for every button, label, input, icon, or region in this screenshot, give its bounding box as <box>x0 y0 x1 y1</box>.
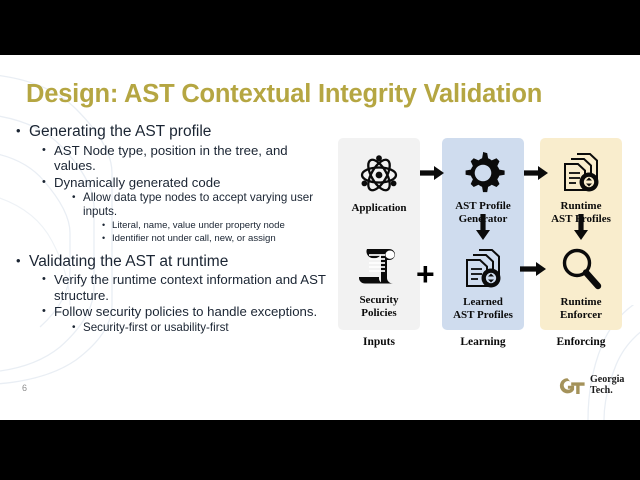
letterbox-bottom <box>0 420 640 480</box>
gear-icon <box>442 148 524 200</box>
bullet-marker: • <box>72 191 83 204</box>
bullet-level1: • Validating the AST at runtime <box>16 253 328 272</box>
bullet-text: Literal, name, value under property node <box>112 220 328 232</box>
column-label-learning: Learning <box>442 336 524 348</box>
gt-monogram-icon <box>556 376 586 396</box>
bullet-spacer <box>16 246 328 253</box>
letterbox-top <box>0 0 640 55</box>
bullet-marker: • <box>16 253 29 269</box>
column-label-enforcing: Enforcing <box>540 336 622 348</box>
bullet-level4: • Identifier not under call, new, or ass… <box>102 233 328 245</box>
bullet-list: • Generating the AST profile • AST Node … <box>16 123 328 336</box>
arrow-runtime-profiles-to-enforcer <box>574 214 588 240</box>
bullet-text: Dynamically generated code <box>54 175 328 191</box>
bullet-level2: • Verify the runtime context information… <box>42 272 328 303</box>
bullet-marker: • <box>42 175 54 189</box>
bullet-level2: • Follow security policies to handle exc… <box>42 304 328 320</box>
node-security-policies: Security Policies <box>338 242 420 319</box>
column-label-inputs: Inputs <box>338 336 420 348</box>
atom-icon <box>338 150 420 202</box>
node-caption-line1: Runtime <box>540 296 622 309</box>
page-number: 6 <box>22 383 27 393</box>
bullet-text: Allow data type nodes to accept varying … <box>83 191 328 218</box>
node-caption-line2: Enforcer <box>540 309 622 322</box>
node-caption-line1: AST Profile <box>442 200 524 213</box>
node-caption: Application <box>338 202 420 215</box>
bullet-marker: • <box>16 123 29 139</box>
georgia-tech-logo: Georgia Tech. <box>556 375 624 397</box>
scroll-icon <box>338 242 420 294</box>
bullet-marker: • <box>42 272 54 286</box>
arrow-learned-to-enforcer <box>520 262 546 276</box>
magnifier-icon <box>540 244 622 296</box>
bullet-level3: • Allow data type nodes to accept varyin… <box>72 191 328 218</box>
bullet-text: Follow security policies to handle excep… <box>54 304 328 320</box>
bullet-text: Validating the AST at runtime <box>29 253 328 272</box>
bullet-text: Verify the runtime context information a… <box>54 272 328 303</box>
bullet-level2: • Dynamically generated code <box>42 175 328 191</box>
gt-wordmark-line1: Georgia <box>590 374 624 385</box>
documents-badge-icon <box>442 244 524 296</box>
gt-wordmark-line2: Tech. <box>590 385 613 396</box>
node-caption-line1: Runtime <box>540 200 622 213</box>
node-learned-ast-profiles: Learned AST Profiles <box>442 244 524 321</box>
node-caption-line2: AST Profiles <box>442 309 524 322</box>
bullet-level1: • Generating the AST profile <box>16 123 328 142</box>
bullet-marker: • <box>72 321 83 334</box>
arrow-generator-to-learned <box>476 214 490 240</box>
bullet-marker: • <box>42 304 54 318</box>
arrow-generator-to-runtime-profiles <box>524 166 548 180</box>
bullet-marker: • <box>42 143 54 157</box>
bullet-marker: • <box>102 220 112 232</box>
plus-symbol: + <box>416 258 435 290</box>
pipeline-diagram: Application <box>334 138 630 383</box>
bullet-text: AST Node type, position in the tree, and… <box>54 143 328 174</box>
slide-canvas: Design: AST Contextual Integrity Validat… <box>0 55 640 420</box>
page-title: Design: AST Contextual Integrity Validat… <box>26 80 542 109</box>
bullet-text: Identifier not under call, new, or assig… <box>112 233 328 245</box>
node-caption-line1: Learned <box>442 296 524 309</box>
documents-badge-icon <box>540 148 622 200</box>
bullet-level3: • Security-first or usability-first <box>72 321 328 335</box>
bullet-marker: • <box>102 233 112 245</box>
bullet-text: Security-first or usability-first <box>83 321 328 335</box>
bullet-level4: • Literal, name, value under property no… <box>102 220 328 232</box>
node-caption-line2: Policies <box>338 307 420 320</box>
gt-wordmark: Georgia Tech. <box>590 375 624 397</box>
node-application: Application <box>338 150 420 215</box>
node-runtime-enforcer: Runtime Enforcer <box>540 244 622 321</box>
node-caption-line1: Security <box>338 294 420 307</box>
bullet-text: Generating the AST profile <box>29 123 328 142</box>
bullet-level2: • AST Node type, position in the tree, a… <box>42 143 328 174</box>
slide-viewer: Design: AST Contextual Integrity Validat… <box>0 0 640 480</box>
arrow-application-to-generator <box>420 166 444 180</box>
